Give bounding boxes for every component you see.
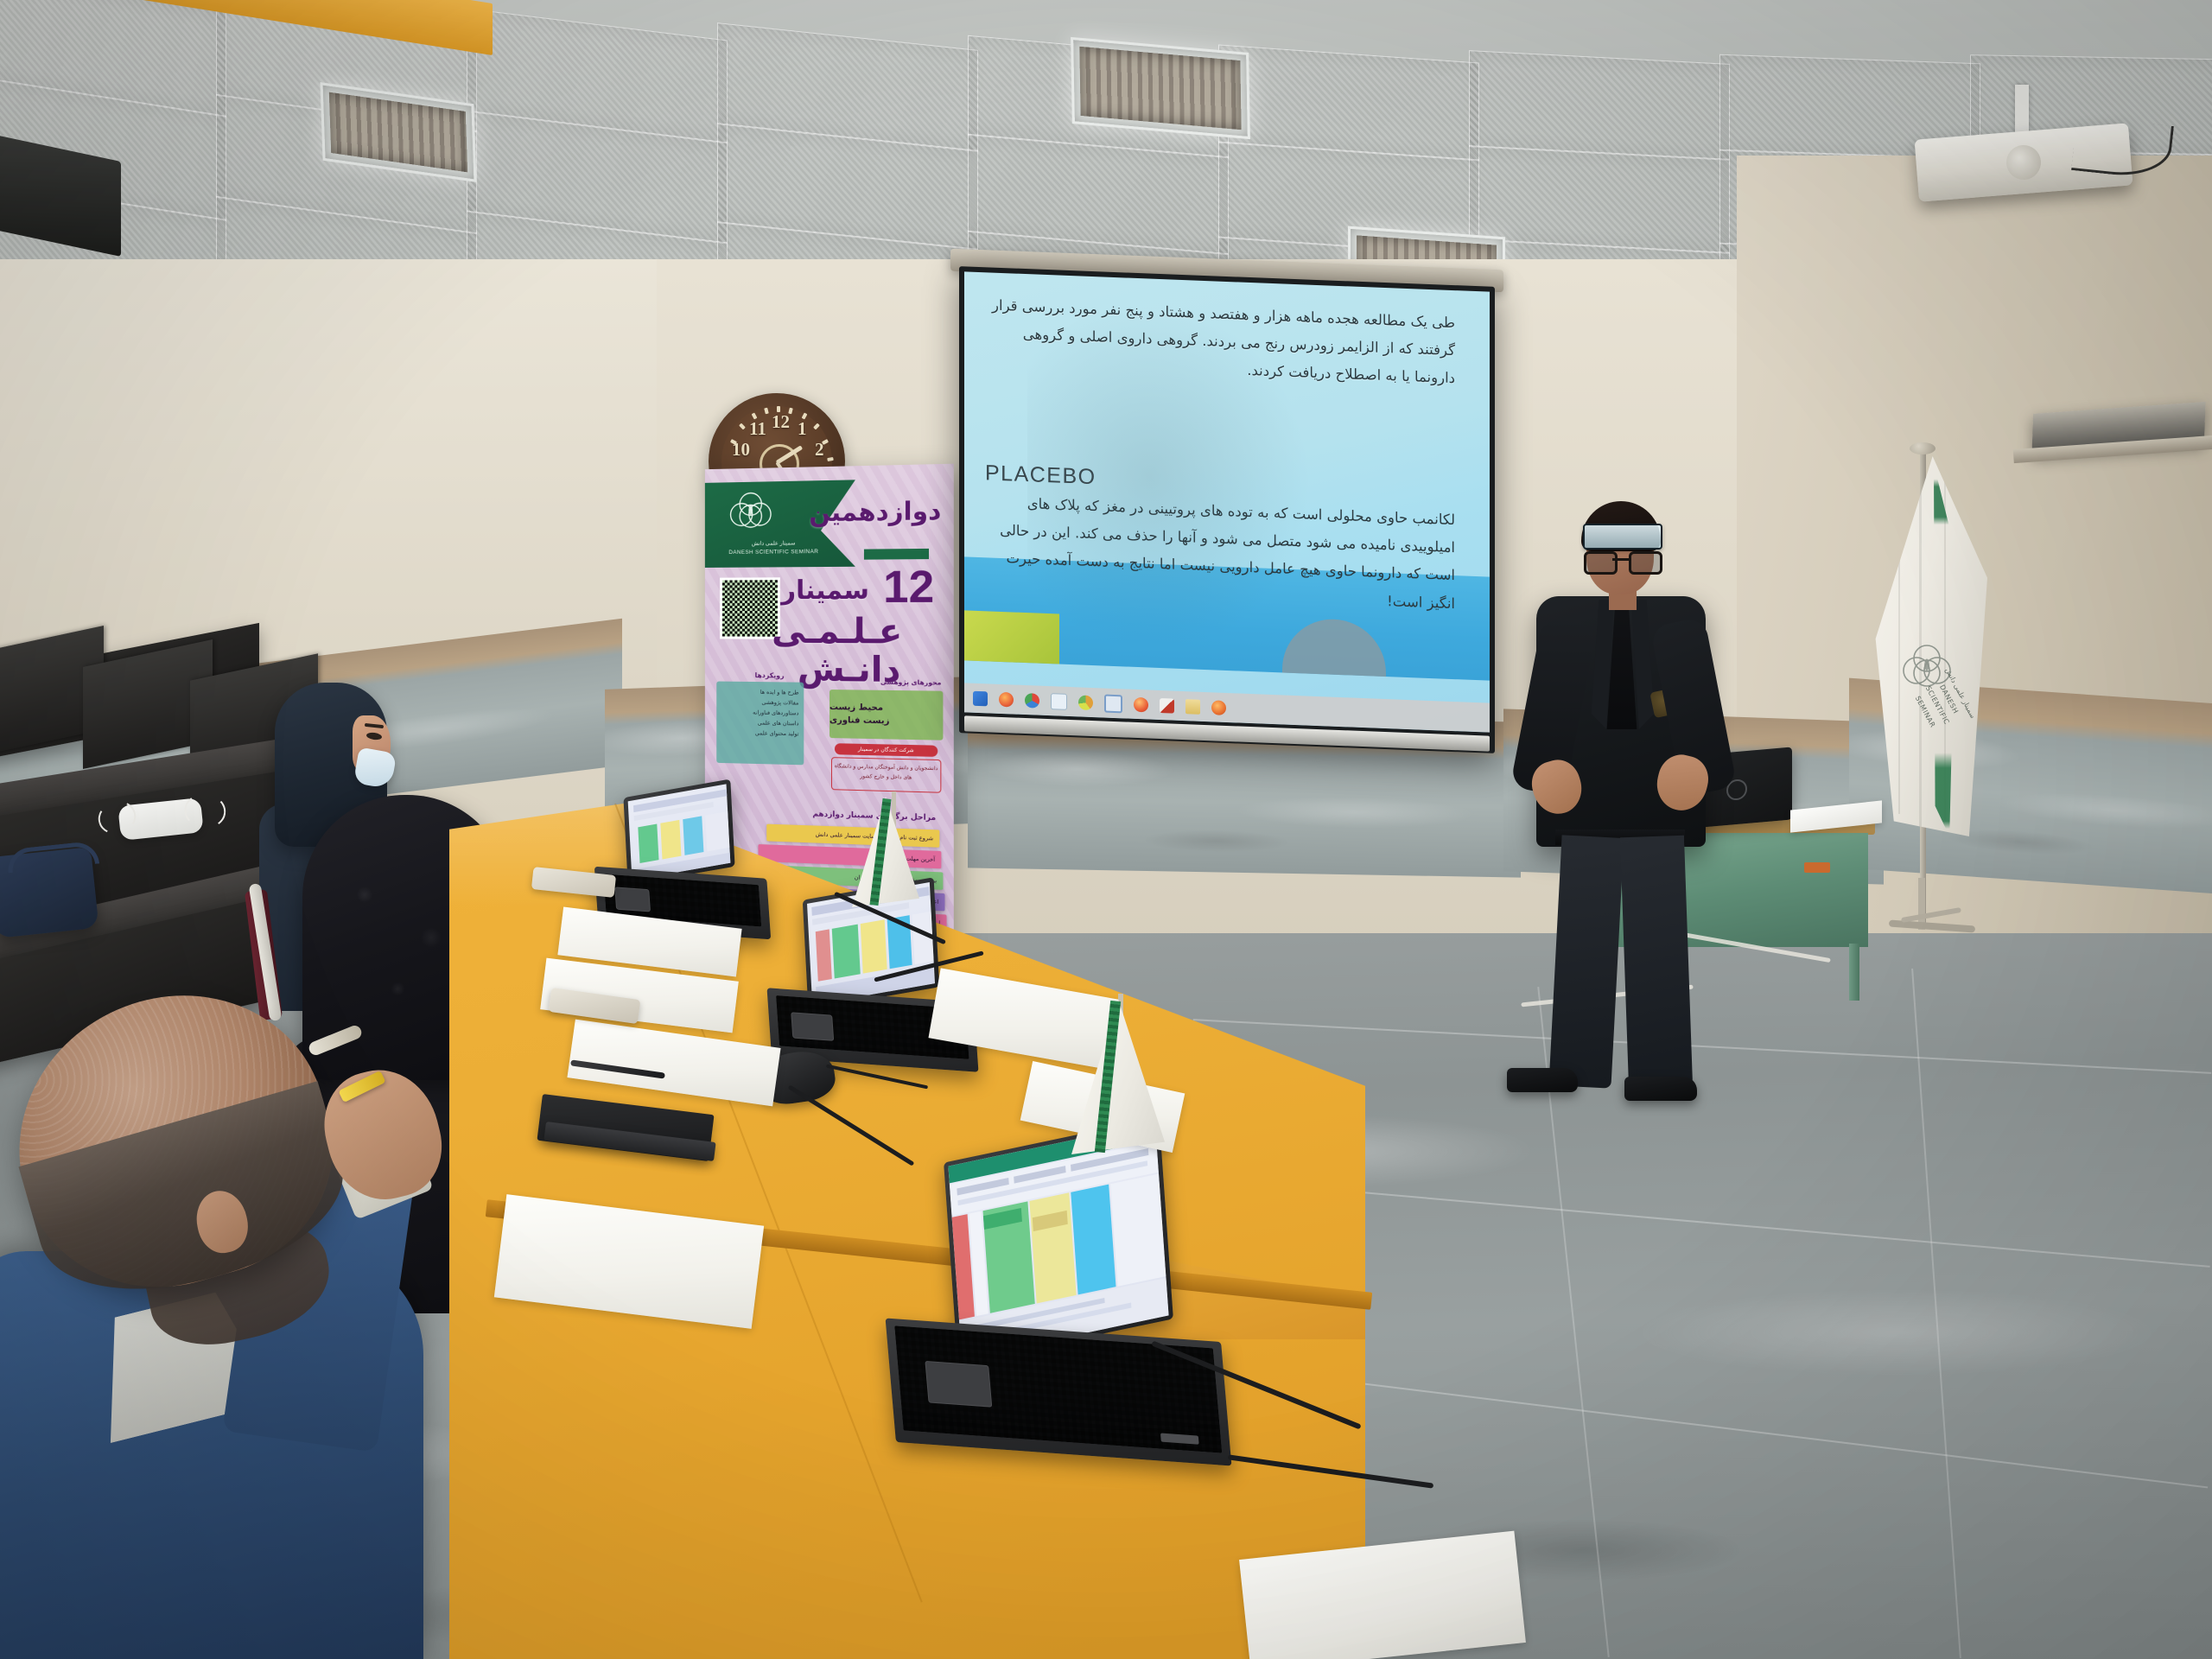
- banner-approaches-title: رویکردها: [755, 671, 785, 679]
- chrome-icon[interactable]: [1025, 693, 1039, 709]
- topic-item: محیط زیست: [829, 701, 883, 715]
- laptop-screen: [628, 784, 731, 880]
- flag-finial: [1910, 442, 1935, 454]
- topic-item: زیست فناوری: [829, 714, 889, 728]
- banner-scientific-word: عـلـمـی: [772, 612, 902, 652]
- projected-slide: طی یک مطالعه هجده ماهه هزار و هفتصد و هش…: [964, 271, 1490, 732]
- banner-topics-list: محیط زیست زیست فناوری: [829, 690, 943, 741]
- paint-icon[interactable]: [1160, 698, 1174, 714]
- slide-paragraph-1: طی یک مطالعه هجده ماهه هزار و هفتصد و هش…: [987, 291, 1455, 392]
- firefox-icon[interactable]: [999, 691, 1014, 707]
- projection-screen: طی یک مطالعه هجده ماهه هزار و هفتصد و هش…: [959, 266, 1495, 753]
- firefox-alt-icon[interactable]: [1211, 700, 1226, 715]
- presenter-legs: [1555, 836, 1690, 1087]
- flag-base-stand: [1889, 878, 1975, 938]
- chrome-window-icon[interactable]: [1078, 695, 1093, 710]
- desk-label-sticker: [1804, 862, 1830, 873]
- photos-icon[interactable]: [1104, 694, 1122, 713]
- banner-logo-caption: سمینار علمی دانش DANESH SCIENTIFIC SEMIN…: [723, 539, 824, 556]
- photo-scene: 12 1 2 11 10: [0, 0, 2212, 1659]
- laptop-screen: [948, 1122, 1168, 1359]
- banner-logo-caption-en: DANESH SCIENTIFIC SEMINAR: [723, 548, 824, 557]
- face-shield-icon: [1583, 524, 1662, 550]
- banner-topics-title: محورهای پژوهشی: [880, 678, 941, 687]
- folder-icon[interactable]: [1185, 699, 1200, 715]
- approach-item: تولید محتوای علمی: [721, 728, 798, 740]
- clock-numeral: 11: [749, 418, 766, 440]
- slide-paragraph-2: لکانمب حاوی محلولی است که به توده های پر…: [987, 488, 1455, 618]
- banner-participants-note: دانشجویان و دانش آموختگان مدارس و دانشگا…: [831, 757, 941, 793]
- clock-numeral: 1: [798, 418, 807, 440]
- document-icon[interactable]: [1051, 693, 1067, 710]
- start-windows-icon[interactable]: [973, 690, 988, 706]
- eyeglasses-icon: [1584, 551, 1660, 570]
- banner-approaches-list: طرح ها و ایده ها مقالات پژوهشی دستاوردها…: [716, 682, 804, 766]
- banner-number: 12: [883, 561, 934, 613]
- ceiling-light-fixture: [1071, 37, 1250, 139]
- banner-ordinal: دوازدهمین: [809, 496, 941, 528]
- presenter-shoe: [1507, 1068, 1578, 1092]
- slide-placebo-label: PLACEBO: [985, 461, 1096, 490]
- presenter-shoe: [1624, 1077, 1697, 1101]
- clock-numeral: 12: [772, 411, 790, 433]
- firefox-window-icon[interactable]: [1134, 696, 1148, 712]
- banner-seminar-word: سمینار: [781, 575, 869, 606]
- wallpaper-green-accent: [964, 610, 1059, 664]
- slide-body-text: طی یک مطالعه هجده ماهه هزار و هفتصد و هش…: [987, 291, 1455, 392]
- banner-accent-bar: [864, 549, 929, 560]
- banner-participants-badge: شرکت کنندگان در سمینار: [835, 743, 938, 757]
- seminar-circles-logo: [725, 486, 777, 537]
